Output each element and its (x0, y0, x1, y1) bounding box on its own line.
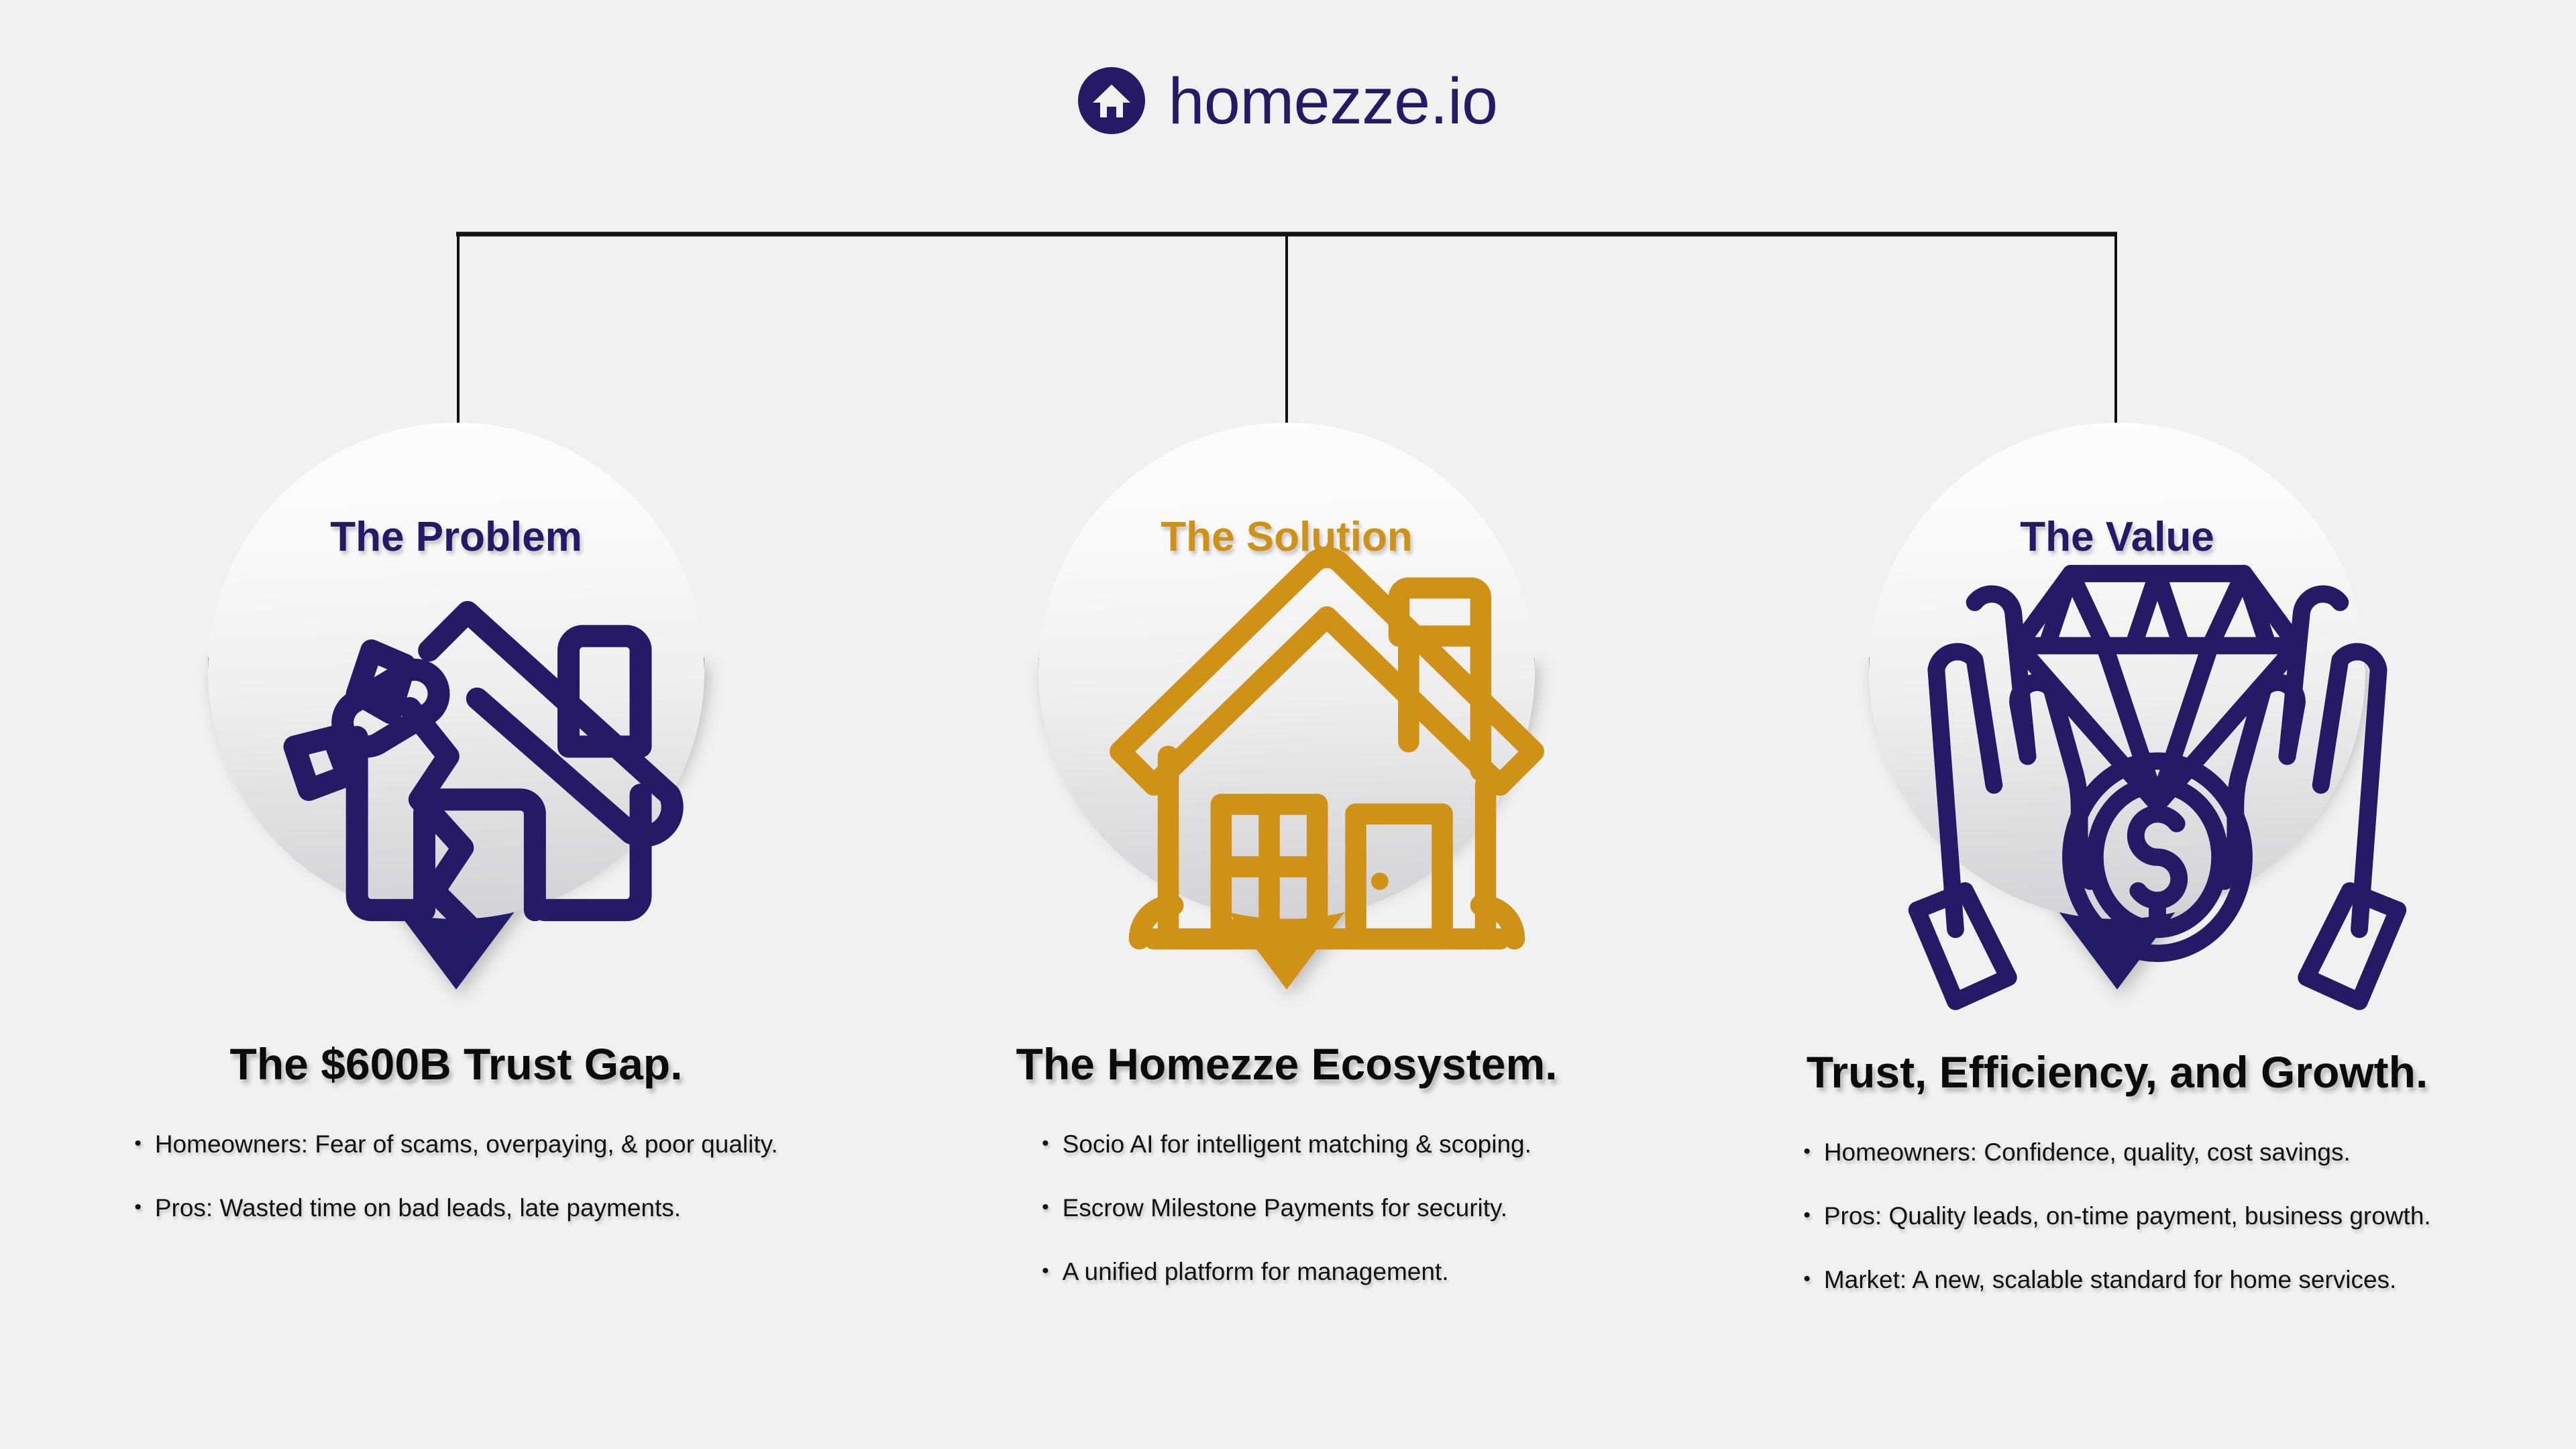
list-item: • Homeowners: Confidence, quality, cost … (1803, 1137, 2430, 1168)
bullet-list-value: • Homeowners: Confidence, quality, cost … (1803, 1137, 2430, 1296)
bullet-marker-icon: • (1042, 1129, 1049, 1159)
list-item: • Socio AI for intelligent matching & sc… (1042, 1129, 1532, 1160)
list-item-text: Escrow Milestone Payments for security. (1063, 1193, 1507, 1224)
pin-badge-problem[interactable]: The Problem (168, 416, 745, 1006)
pin-face-solution: The Solution (1038, 423, 1535, 919)
pin-face-value: The Value (1869, 423, 2365, 919)
pin-badge-value[interactable]: The Value (1829, 416, 2406, 1006)
heading-value: Trust, Efficiency, and Growth. (1728, 1048, 2506, 1097)
list-item-text: Homeowners: Confidence, quality, cost sa… (1824, 1137, 2351, 1168)
list-item: • Pros: Wasted time on bad leads, late p… (134, 1193, 777, 1224)
caption-solution: The Homezze Ecosystem. • Socio AI for in… (898, 1040, 1676, 1287)
caption-value: Trust, Efficiency, and Growth. • Homeown… (1728, 1048, 2506, 1295)
list-item-text: Pros: Quality leads, on-time payment, bu… (1824, 1201, 2431, 1232)
infographic-canvas: homezze.io The Problem (0, 0, 2576, 1449)
bullet-marker-icon: • (1803, 1201, 1811, 1230)
column-value: The Value (1728, 0, 2506, 1449)
bullet-list-problem: • Homeowners: Fear of scams, overpaying,… (134, 1129, 777, 1224)
list-item-text: Socio AI for intelligent matching & scop… (1063, 1129, 1532, 1160)
list-item: • Pros: Quality leads, on-time payment, … (1803, 1201, 2430, 1232)
column-problem: The Problem (67, 0, 845, 1449)
caption-problem: The $600B Trust Gap. • Homeowners: Fear … (67, 1040, 845, 1224)
list-item-text: A unified platform for management. (1063, 1256, 1449, 1287)
bullet-marker-icon: • (134, 1193, 142, 1222)
bullet-marker-icon: • (1042, 1256, 1049, 1286)
list-item-text: Market: A new, scalable standard for hom… (1824, 1265, 2396, 1295)
list-item-text: Pros: Wasted time on bad leads, late pay… (155, 1193, 681, 1224)
bullet-list-solution: • Socio AI for intelligent matching & sc… (1042, 1129, 1532, 1288)
list-item: • A unified platform for management. (1042, 1256, 1532, 1287)
list-item-text: Homeowners: Fear of scams, overpaying, &… (155, 1129, 778, 1160)
pin-badge-solution[interactable]: The Solution (998, 416, 1575, 1006)
heading-solution: The Homezze Ecosystem. (898, 1040, 1676, 1089)
bullet-marker-icon: • (1803, 1265, 1811, 1294)
list-item: • Market: A new, scalable standard for h… (1803, 1265, 2430, 1295)
pin-face-problem: The Problem (208, 423, 704, 919)
columns-row: The Problem (0, 0, 2576, 1449)
bullet-marker-icon: • (1803, 1137, 1811, 1167)
list-item: • Escrow Milestone Payments for security… (1042, 1193, 1532, 1224)
column-solution: The Solution (898, 0, 1676, 1449)
bullet-marker-icon: • (134, 1129, 142, 1159)
bullet-marker-icon: • (1042, 1193, 1049, 1222)
heading-problem: The $600B Trust Gap. (67, 1040, 845, 1089)
list-item: • Homeowners: Fear of scams, overpaying,… (134, 1129, 777, 1160)
